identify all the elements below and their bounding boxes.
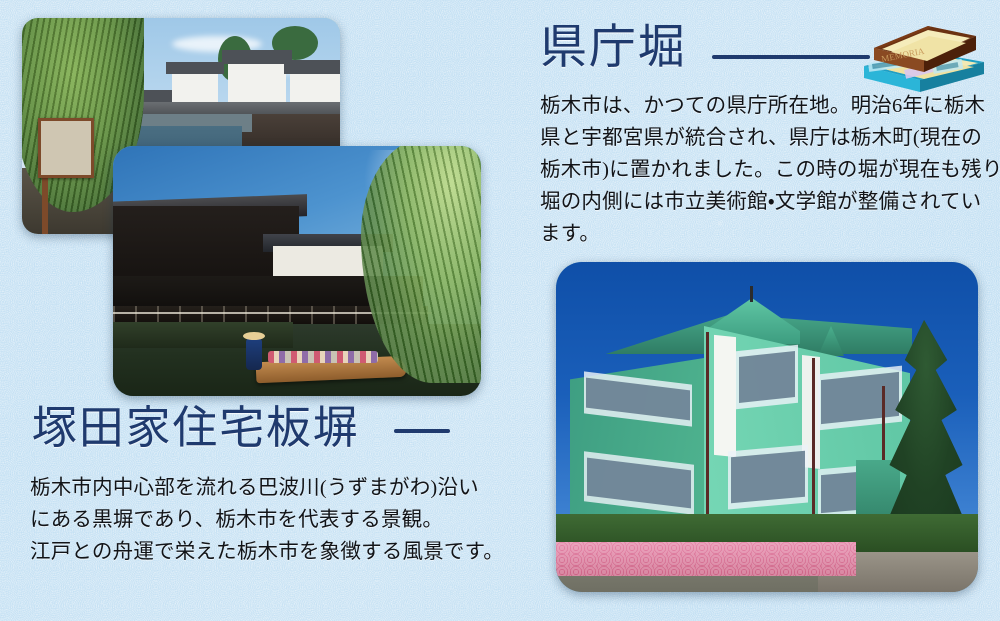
window-glass xyxy=(739,351,795,403)
body-line: 栃木市は、かつての県庁所在地。明治6年に栃木 xyxy=(540,90,992,122)
poster-canvas: 県庁堀 MEMORIA 栃木市は、かつての県庁所在地。明治6年に栃木 xyxy=(0,0,1000,621)
body-line: 栃木市内中心部を流れる巴波川(うずまがわ)沿い xyxy=(30,472,500,504)
grass-bank xyxy=(113,322,293,348)
roof xyxy=(284,60,340,74)
information-signboard xyxy=(38,118,94,178)
boat-passengers xyxy=(268,351,378,363)
body-line: ます。 xyxy=(540,218,992,250)
roof xyxy=(222,50,292,64)
drainpipe xyxy=(706,332,709,540)
finial xyxy=(750,286,753,302)
heading-rule-tsukada xyxy=(394,429,450,433)
photo-boat-canal xyxy=(113,146,481,396)
body-line: 堀の内側には市立美術館・文学館が整備されてい xyxy=(540,186,992,218)
boatman xyxy=(246,338,262,370)
body-text-tsukada: 栃木市内中心部を流れる巴波川(うずまがわ)沿い にある黒塀であり、栃木市を代表す… xyxy=(30,472,500,568)
window-glass xyxy=(821,372,899,424)
window-glass xyxy=(731,451,805,503)
white-trim xyxy=(714,335,736,457)
roof xyxy=(166,62,224,74)
heading-kenchobori: 県庁堀 xyxy=(540,25,687,72)
body-line: 栃木市)に置かれました。この時の堀が現在も残り、 xyxy=(540,154,992,186)
heading-tsukada: 塚田家住宅板塀 xyxy=(32,406,360,451)
drainpipe xyxy=(812,358,815,538)
heading-rule-kenchobori xyxy=(712,55,870,59)
body-line: 県と宇都宮県が統合され、県庁は栃木町(現在の xyxy=(540,122,992,154)
body-text-kenchobori: 栃木市は、かつての県庁所在地。明治6年に栃木 県と宇都宮県が統合され、県庁は栃木… xyxy=(540,90,992,250)
books-icon: MEMORIA xyxy=(858,18,990,96)
body-line: 江戸との舟運で栄えた栃木市を象徴する風景です。 xyxy=(30,536,500,568)
body-line: にある黒塀であり、栃木市を代表する景観。 xyxy=(30,504,500,536)
azalea-flowerbed xyxy=(556,542,856,576)
photo-green-building xyxy=(556,262,978,592)
straw-hat xyxy=(243,332,265,340)
